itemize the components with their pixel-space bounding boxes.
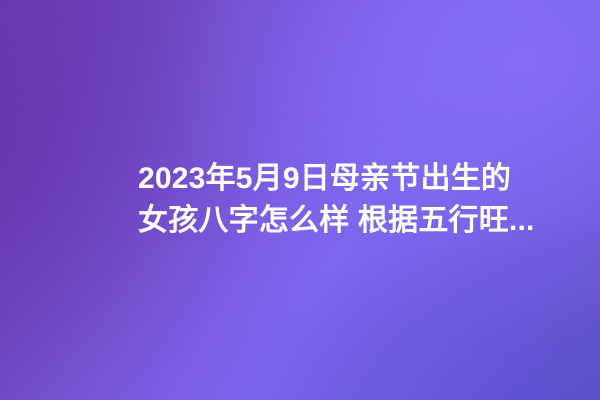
- title-block: 2023年5月9日母亲节出生的 女孩八字怎么样 根据五行旺...: [0, 0, 600, 400]
- article-title-card[interactable]: 2023年5月9日母亲节出生的 女孩八字怎么样 根据五行旺...: [0, 0, 600, 400]
- page-title: 2023年5月9日母亲节出生的 女孩八字怎么样 根据五行旺...: [138, 158, 462, 242]
- title-line-2: 女孩八字怎么样 根据五行旺...: [138, 200, 462, 242]
- title-line-1: 2023年5月9日母亲节出生的: [138, 158, 462, 200]
